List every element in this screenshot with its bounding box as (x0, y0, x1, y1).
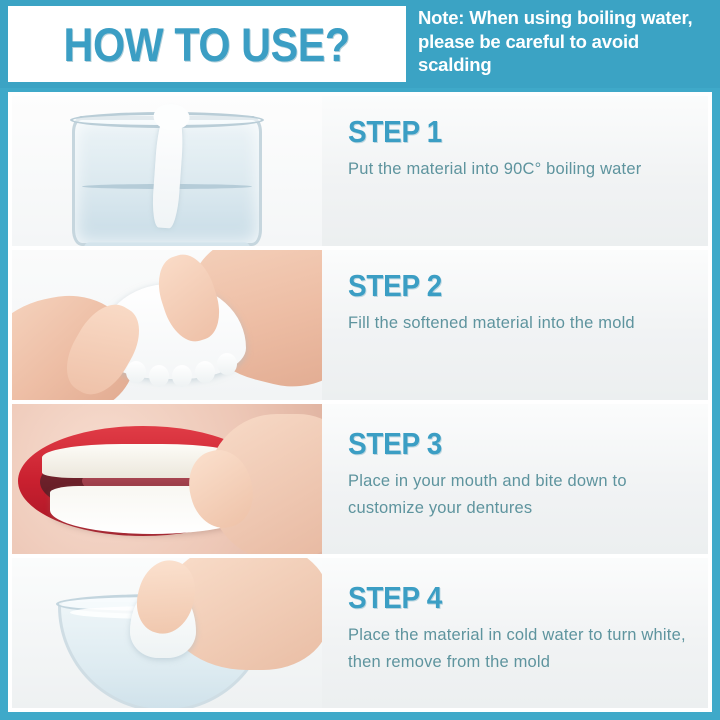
step-4-text: STEP 4 Place the material in cold water … (322, 558, 708, 708)
poster-header: HOW TO USE? Note: When using boiling wat… (0, 0, 720, 88)
safety-note: Note: When using boiling water, please b… (406, 0, 720, 88)
step-row-3: STEP 3 Place in your mouth and bite down… (12, 404, 708, 554)
step-4-photo (12, 558, 322, 708)
step-4-desc: Place the material in cold water to turn… (348, 622, 694, 675)
step-2-photo (12, 250, 322, 400)
step-1-title: STEP 1 (348, 114, 659, 150)
step-3-photo (12, 404, 322, 554)
step-3-text: STEP 3 Place in your mouth and bite down… (322, 404, 708, 554)
step-1-photo (12, 96, 322, 246)
step-row-4: STEP 4 Place the material in cold water … (12, 558, 708, 708)
step-3-desc: Place in your mouth and bite down to cus… (348, 468, 694, 521)
title-box: HOW TO USE? (8, 6, 406, 82)
step-2-text: STEP 2 Fill the softened material into t… (322, 250, 708, 400)
page-title: HOW TO USE? (64, 17, 350, 72)
step-3-title: STEP 3 (348, 426, 659, 462)
step-4-title: STEP 4 (348, 580, 659, 616)
step-1-desc: Put the material into 90C° boiling water (348, 156, 694, 183)
glass-base-icon (84, 242, 250, 246)
how-to-use-poster: HOW TO USE? Note: When using boiling wat… (0, 0, 720, 720)
steps-frame: STEP 1 Put the material into 90C° boilin… (8, 92, 712, 712)
step-2-title: STEP 2 (348, 268, 659, 304)
step-row-1: STEP 1 Put the material into 90C° boilin… (12, 96, 708, 246)
step-row-2: STEP 2 Fill the softened material into t… (12, 250, 708, 400)
step-2-desc: Fill the softened material into the mold (348, 310, 694, 337)
step-1-text: STEP 1 Put the material into 90C° boilin… (322, 96, 708, 246)
